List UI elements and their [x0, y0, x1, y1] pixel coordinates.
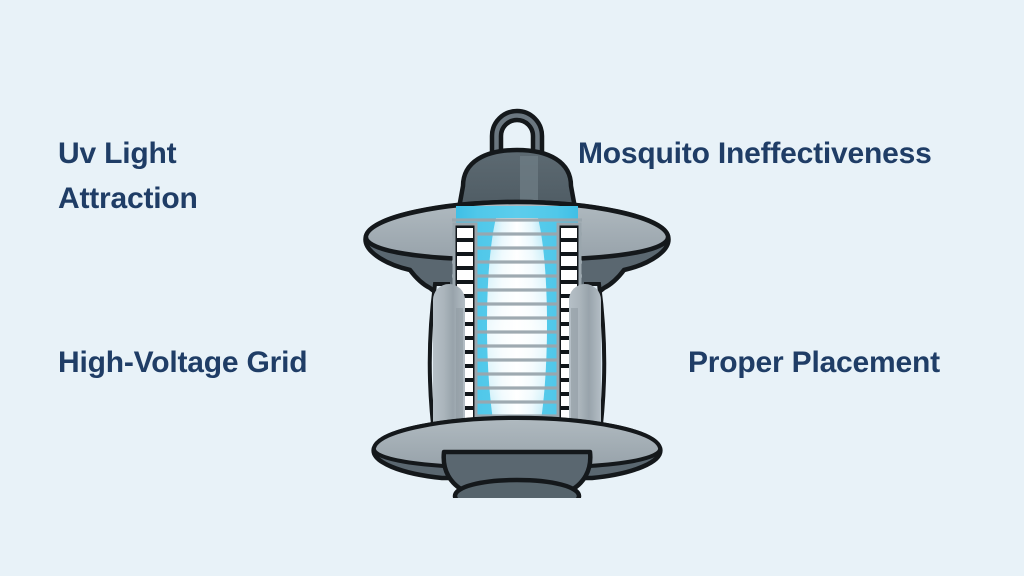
uv-tube — [487, 218, 547, 438]
label-proper-placement: Proper Placement — [688, 340, 940, 385]
label-high-voltage-grid: High-Voltage Grid — [58, 340, 307, 385]
bug-zapper-lamp-illustration — [332, 78, 702, 498]
base-foot-pad — [455, 480, 579, 498]
slide-canvas: Uv Light Attraction Mosquito Ineffective… — [0, 0, 1024, 576]
hanging-ring-handle — [492, 111, 542, 154]
label-uv-light-attraction: Uv Light Attraction — [58, 131, 198, 221]
dome-cap — [459, 150, 575, 208]
